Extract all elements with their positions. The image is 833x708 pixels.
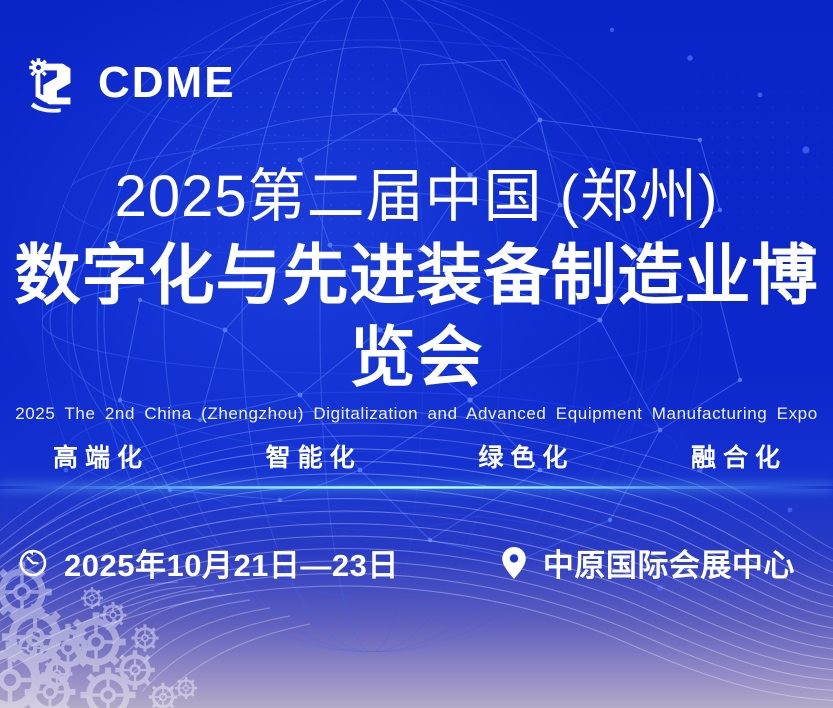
keyword-row: 高端化 智能化 绿色化 融合化 [46,438,787,474]
expo-banner: CDME 2025第二届中国 (郑州) 数字化与先进装备制造业博览会 2025 … [0,0,833,708]
event-venue-text: 中原国际会展中心 [543,540,795,585]
clock-icon [16,546,50,580]
headline-subtitle-english: 2025 The 2nd China (Zhengzhou) Digitaliz… [0,402,833,426]
headline-line-1: 2025第二届中国 (郑州) [0,160,833,234]
cdme-gear-s-logo-icon [22,52,84,114]
headline-line-2: 数字化与先进装备制造业博览会 [0,234,833,398]
headline-block: 2025第二届中国 (郑州) 数字化与先进装备制造业博览会 2025 The 2… [0,160,833,426]
brand-name: CDME [98,61,236,105]
keyword-item-3: 绿色化 [471,438,574,474]
keyword-item-2: 智能化 [259,438,362,474]
brand-logo[interactable]: CDME [22,52,236,114]
keyword-item-4: 融合化 [684,438,787,474]
location-pin-icon [499,545,529,581]
keyword-item-1: 高端化 [46,438,149,474]
glow-divider-core [150,487,683,488]
event-date-text: 2025年10月21日—23日 [64,540,399,585]
info-row: 2025年10月21日—23日 中原国际会展中心 [12,540,821,585]
event-date: 2025年10月21日—23日 [16,540,399,585]
event-venue: 中原国际会展中心 [499,540,795,585]
